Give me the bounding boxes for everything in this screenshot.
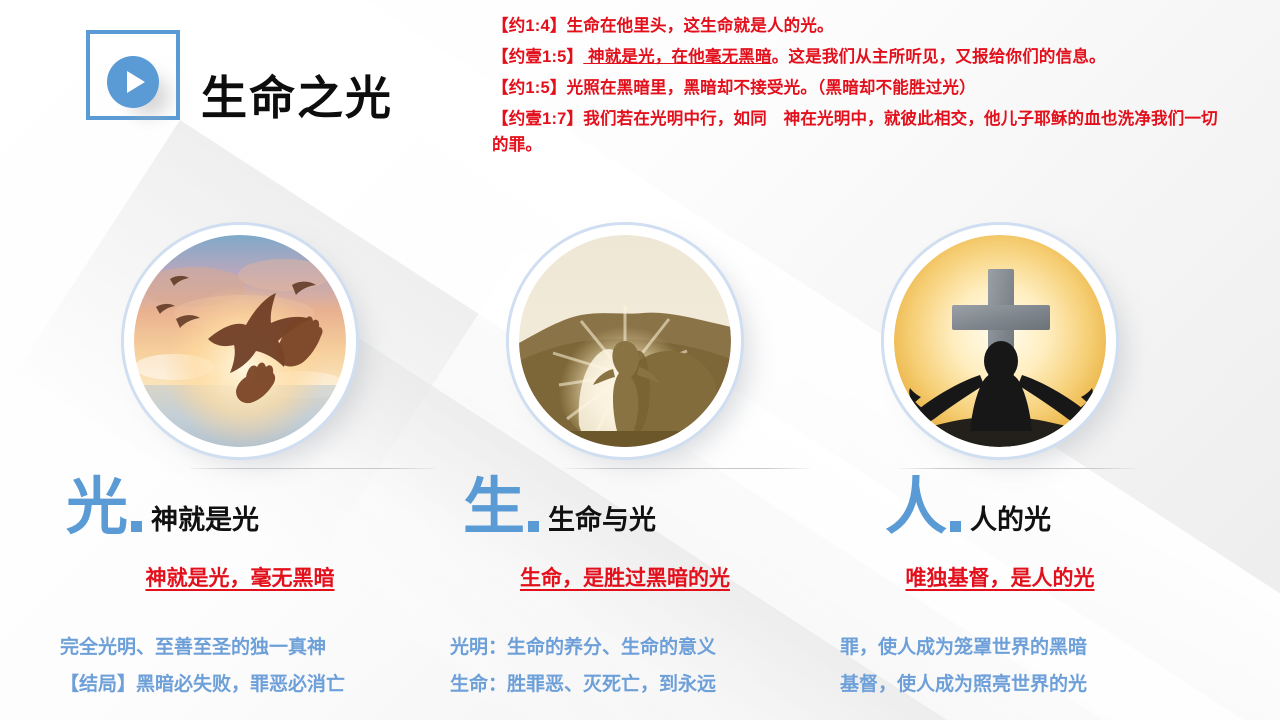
body-line: 完全光明、至善至圣的独一真神 [60, 629, 460, 666]
logo-square-frame-icon [86, 30, 180, 120]
circle-ring [124, 225, 356, 457]
scripture-verse: 【约壹1:7】我们若在光明中行，如同 神在光明中，就彼此相交，他儿子耶稣的血也洗… [492, 106, 1222, 158]
verse-text: 。这是我们从主所听见，又报给你们的信息。 [772, 48, 1106, 66]
verse-reference: 【约壹1:5】 [492, 48, 583, 66]
column-body-text: 完全光明、至善至圣的独一真神 【结局】黑暗必失败，罪恶必消亡 [50, 629, 460, 703]
body-line: 【结局】黑暗必失败，罪恶必消亡 [60, 666, 460, 703]
slide-canvas: 生命之光 【约1:4】生命在他里头，这生命就是人的光。 【约壹1:5】 神就是光… [0, 0, 1280, 720]
verse-reference: 【约1:5】 [492, 79, 567, 97]
column-big-char: 人 [885, 477, 947, 539]
play-button-icon [107, 56, 159, 108]
verse-text: 我们若在光明中行，如同 神在光明中，就彼此相交，他儿子耶稣的血也洗净我们一切的罪… [492, 110, 1218, 154]
column-subheading: 人的光 [970, 503, 1051, 539]
body-line: 生命：胜罪恶、灭死亡，到永远 [450, 666, 850, 703]
column-red-statement: 唯独基督，是人的光 [800, 562, 1200, 592]
square-dot-icon [131, 521, 142, 532]
circle-image-frame [124, 225, 356, 457]
circle-ring [509, 225, 741, 457]
body-line: 光明：生命的养分、生命的意义 [450, 629, 850, 666]
column-subheading: 神就是光 [151, 503, 259, 539]
scripture-verse: 【约壹1:5】 神就是光，在他毫无黑暗。这是我们从主所听见，又报给你们的信息。 [492, 44, 1222, 70]
circle-image-frame [884, 225, 1116, 457]
verse-reference: 【约1:4】 [492, 17, 567, 35]
page-title: 生命之光 [201, 62, 393, 128]
square-dot-icon [950, 521, 961, 532]
column-body-text: 罪，使人成为笼罩世界的黑暗 基督，使人成为照亮世界的光 [830, 629, 1240, 703]
column-body-text: 光明：生命的养分、生命的意义 生命：胜罪恶、灭死亡，到永远 [440, 629, 850, 703]
column-heading: 生 生命与光 [463, 477, 656, 539]
column-divider [565, 468, 810, 469]
body-line: 基督，使人成为照亮世界的光 [840, 666, 1240, 703]
column-big-char: 光 [66, 477, 128, 539]
scripture-verse: 【约1:4】生命在他里头，这生命就是人的光。 [492, 13, 1222, 39]
column-heading: 人 人的光 [885, 477, 1051, 539]
circle-ring [884, 225, 1116, 457]
verse-text: 光照在黑暗里，黑暗却不接受光。（黑暗却不能胜过光） [567, 79, 976, 97]
verse-reference: 【约壹1:7】 [492, 110, 583, 128]
verse-underlined-text: 神就是光，在他毫无黑暗 [583, 48, 771, 66]
square-dot-icon [528, 521, 539, 532]
column-red-statement: 神就是光，毫无黑暗 [40, 562, 440, 592]
column-red-statement: 生命，是胜过黑暗的光 [425, 562, 825, 592]
content-column: 人 人的光 唯独基督，是人的光 罪，使人成为笼罩世界的黑暗 基督，使人成为照亮世… [800, 225, 1200, 457]
verse-text: 生命在他里头，这生命就是人的光。 [567, 17, 834, 35]
content-column: 生 生命与光 生命，是胜过黑暗的光 光明：生命的养分、生命的意义 生命：胜罪恶、… [425, 225, 825, 457]
body-line: 罪，使人成为笼罩世界的黑暗 [840, 629, 1240, 666]
circle-image-frame [509, 225, 741, 457]
column-heading: 光 神就是光 [66, 477, 259, 539]
scripture-block: 【约1:4】生命在他里头，这生命就是人的光。 【约壹1:5】 神就是光，在他毫无… [492, 13, 1222, 163]
column-divider [190, 468, 435, 469]
scripture-verse: 【约1:5】光照在黑暗里，黑暗却不接受光。（黑暗却不能胜过光） [492, 75, 1222, 101]
column-big-char: 生 [463, 477, 525, 539]
header-logo-block: 生命之光 [86, 24, 506, 124]
column-divider [900, 468, 1135, 469]
column-subheading: 生命与光 [548, 503, 656, 539]
content-column: 光 神就是光 神就是光，毫无黑暗 完全光明、至善至圣的独一真神 【结局】黑暗必失… [40, 225, 440, 457]
